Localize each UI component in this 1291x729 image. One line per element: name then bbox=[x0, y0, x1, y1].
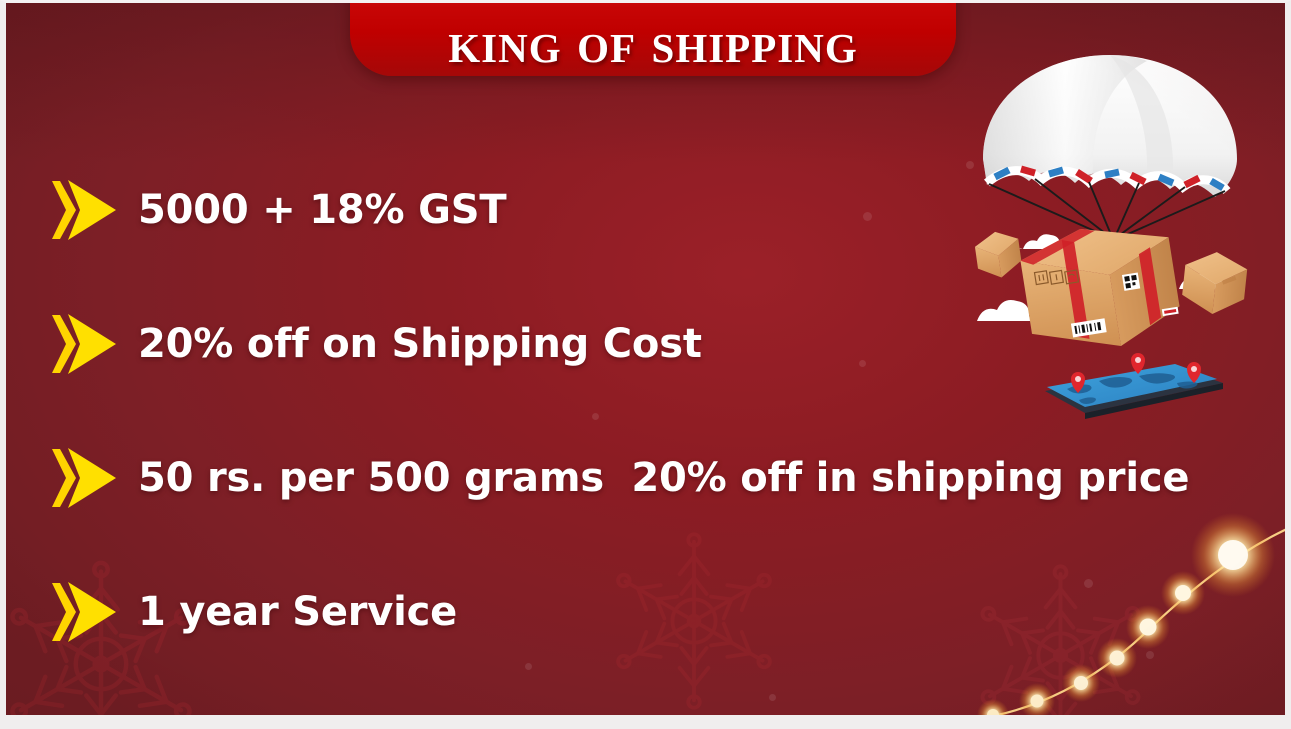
offer-text: 1 year Service bbox=[138, 591, 457, 633]
page-title: King of Shipping bbox=[448, 14, 857, 72]
offer-text: 50 rs. per 500 grams 20% off in shipping… bbox=[138, 457, 1189, 499]
list-item: 20% off on Shipping Cost bbox=[50, 277, 1240, 411]
double-chevron-arrow-icon bbox=[50, 311, 122, 377]
double-chevron-arrow-icon bbox=[50, 177, 122, 243]
promo-banner: King of Shipping 5000 + 18% GST 20% off … bbox=[0, 0, 1291, 729]
double-chevron-arrow-icon bbox=[50, 445, 122, 511]
offer-text: 5000 + 18% GST bbox=[138, 189, 507, 231]
offer-text: 20% off on Shipping Cost bbox=[138, 323, 702, 365]
offer-list: 5000 + 18% GST 20% off on Shipping Cost … bbox=[50, 143, 1240, 679]
double-chevron-arrow-icon bbox=[50, 579, 122, 645]
list-item: 5000 + 18% GST bbox=[50, 143, 1240, 277]
title-banner: King of Shipping bbox=[350, 0, 956, 76]
list-item: 50 rs. per 500 grams 20% off in shipping… bbox=[50, 411, 1240, 545]
list-item: 1 year Service bbox=[50, 545, 1240, 679]
